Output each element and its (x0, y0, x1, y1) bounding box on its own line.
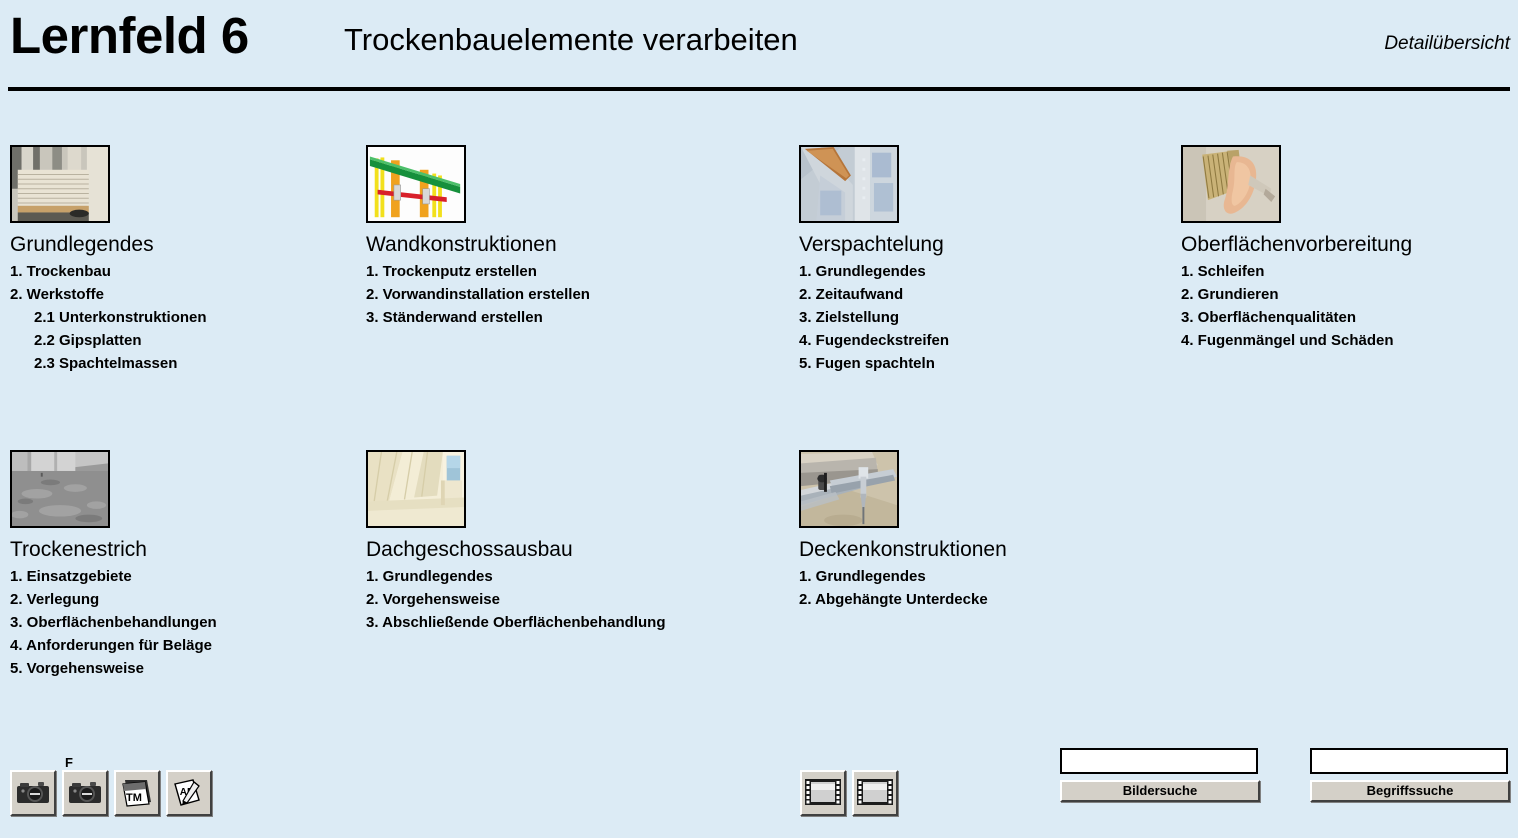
thumb-deckenabhaenger[interactable] (799, 450, 899, 528)
topic-card-oberflaechenvorbereitung[interactable]: Oberflächenvorbereitung 1. Schleifen 2. … (1181, 145, 1412, 352)
list-item[interactable]: 1. Trockenputz erstellen (366, 260, 590, 283)
camera-icon (69, 782, 101, 804)
list-item[interactable]: 2.3 Spachtelmassen (10, 352, 207, 375)
begriffssuche-group: Begriffssuche (1310, 748, 1510, 802)
camera-icon (17, 782, 49, 804)
card-item-list: 1. Trockenputz erstellen 2. Vorwandinsta… (366, 260, 590, 329)
list-item[interactable]: 5. Vorgehensweise (10, 657, 217, 680)
card-title: Wandkonstruktionen (366, 232, 590, 258)
page-header: Lernfeld 6 Trockenbauelemente verarbeite… (0, 0, 1518, 90)
list-item[interactable]: 1. Grundlegendes (799, 565, 1007, 588)
topic-card-wandkonstruktionen[interactable]: Wandkonstruktionen 1. Trockenputz erstel… (366, 145, 590, 329)
film-toolbar (795, 760, 915, 838)
list-item[interactable]: 3. Abschließende Oberflächenbehandlung (366, 611, 666, 634)
topic-card-dachgeschossausbau[interactable]: Dachgeschossausbau 1. Grundlegendes 2. V… (366, 450, 666, 634)
ab-worksheet-button[interactable]: AB (166, 770, 212, 816)
header-divider (8, 87, 1510, 91)
camera-button[interactable] (10, 770, 56, 816)
tm-notepad-icon: TM (121, 778, 153, 808)
thumb-estrichboden[interactable] (10, 450, 110, 528)
film-button-2[interactable] (852, 770, 898, 816)
list-item[interactable]: 4. Fugendeckstreifen (799, 329, 949, 352)
begriffssuche-button[interactable]: Begriffssuche (1310, 780, 1510, 802)
list-item[interactable]: 3. Oberflächenbehandlungen (10, 611, 217, 634)
list-item[interactable]: 3. Zielstellung (799, 306, 949, 329)
list-item[interactable]: 2. Grundieren (1181, 283, 1412, 306)
card-item-list: 1. Grundlegendes 2. Vorgehensweise 3. Ab… (366, 565, 666, 634)
bildersuche-input[interactable] (1060, 748, 1258, 774)
topic-card-grundlegendes[interactable]: Grundlegendes 1. Trockenbau 2. Werkstoff… (10, 145, 207, 375)
list-item[interactable]: 1. Schleifen (1181, 260, 1412, 283)
topic-card-trockenestrich[interactable]: Trockenestrich 1. Einsatzgebiete 2. Verl… (10, 450, 217, 680)
left-toolbar: F TM AB (0, 760, 240, 838)
topic-card-verspachtelung[interactable]: Verspachtelung 1. Grundlegendes 2. Zeita… (799, 145, 949, 375)
page-title: Lernfeld 6 (10, 6, 249, 66)
thumb-hand-mit-buerste[interactable] (1181, 145, 1281, 223)
list-item[interactable]: 1. Grundlegendes (366, 565, 666, 588)
list-item[interactable]: 2. Abgehängte Unterdecke (799, 588, 1007, 611)
list-item[interactable]: 1. Trockenbau (10, 260, 207, 283)
list-item[interactable]: 2.1 Unterkonstruktionen (10, 306, 207, 329)
begriffssuche-input[interactable] (1310, 748, 1508, 774)
list-item[interactable]: 4. Anforderungen für Beläge (10, 634, 217, 657)
card-title: Grundlegendes (10, 232, 207, 258)
page-subtitle: Trockenbauelemente verarbeiten (344, 20, 798, 60)
tm-notepad-button[interactable]: TM (114, 770, 160, 816)
card-title: Dachgeschossausbau (366, 537, 666, 563)
list-item[interactable]: 4. Fugenmängel und Schäden (1181, 329, 1412, 352)
list-item[interactable]: 2. Verlegung (10, 588, 217, 611)
film-button-1[interactable] (800, 770, 846, 816)
card-title: Trockenestrich (10, 537, 217, 563)
card-title: Verspachtelung (799, 232, 949, 258)
list-item[interactable]: 1. Grundlegendes (799, 260, 949, 283)
topic-card-deckenkonstruktionen[interactable]: Deckenkonstruktionen 1. Grundlegendes 2.… (799, 450, 1007, 611)
list-item[interactable]: 2. Zeitaufwand (799, 283, 949, 306)
card-item-list: 1. Trockenbau 2. Werkstoffe 2.1 Unterkon… (10, 260, 207, 375)
list-item[interactable]: 3. Ständerwand erstellen (366, 306, 590, 329)
ab-worksheet-icon: AB (173, 778, 205, 808)
film-strip-icon (805, 779, 841, 808)
list-item[interactable]: 2. Werkstoffe (10, 283, 207, 306)
list-item[interactable]: 1. Einsatzgebiete (10, 565, 217, 588)
bildersuche-button[interactable]: Bildersuche (1060, 780, 1260, 802)
thumb-gipsplatten-stapel[interactable] (10, 145, 110, 223)
thumb-staenderwerk-schema[interactable] (366, 145, 466, 223)
list-item[interactable]: 2.2 Gipsplatten (10, 329, 207, 352)
list-item[interactable]: 5. Fugen spachteln (799, 352, 949, 375)
bildersuche-group: Bildersuche (1060, 748, 1260, 802)
card-item-list: 1. Einsatzgebiete 2. Verlegung 3. Oberfl… (10, 565, 217, 680)
card-item-list: 1. Grundlegendes 2. Abgehängte Unterdeck… (799, 565, 1007, 611)
camera-f-button[interactable]: F (62, 770, 108, 816)
list-item[interactable]: 3. Oberflächenqualitäten (1181, 306, 1412, 329)
camera-f-badge: F (65, 756, 73, 770)
card-item-list: 1. Schleifen 2. Grundieren 3. Oberfläche… (1181, 260, 1412, 352)
view-mode-label: Detailübersicht (1384, 32, 1510, 56)
thumb-dachgeschoss-raum[interactable] (366, 450, 466, 528)
svg-text:TM: TM (126, 792, 142, 804)
list-item[interactable]: 2. Vorgehensweise (366, 588, 666, 611)
film-strip-icon (857, 779, 893, 808)
list-item[interactable]: 2. Vorwandinstallation erstellen (366, 283, 590, 306)
card-title: Deckenkonstruktionen (799, 537, 1007, 563)
card-item-list: 1. Grundlegendes 2. Zeitaufwand 3. Ziels… (799, 260, 949, 375)
thumb-dachschraege-verspachtelt[interactable] (799, 145, 899, 223)
card-title: Oberflächenvorbereitung (1181, 232, 1412, 258)
